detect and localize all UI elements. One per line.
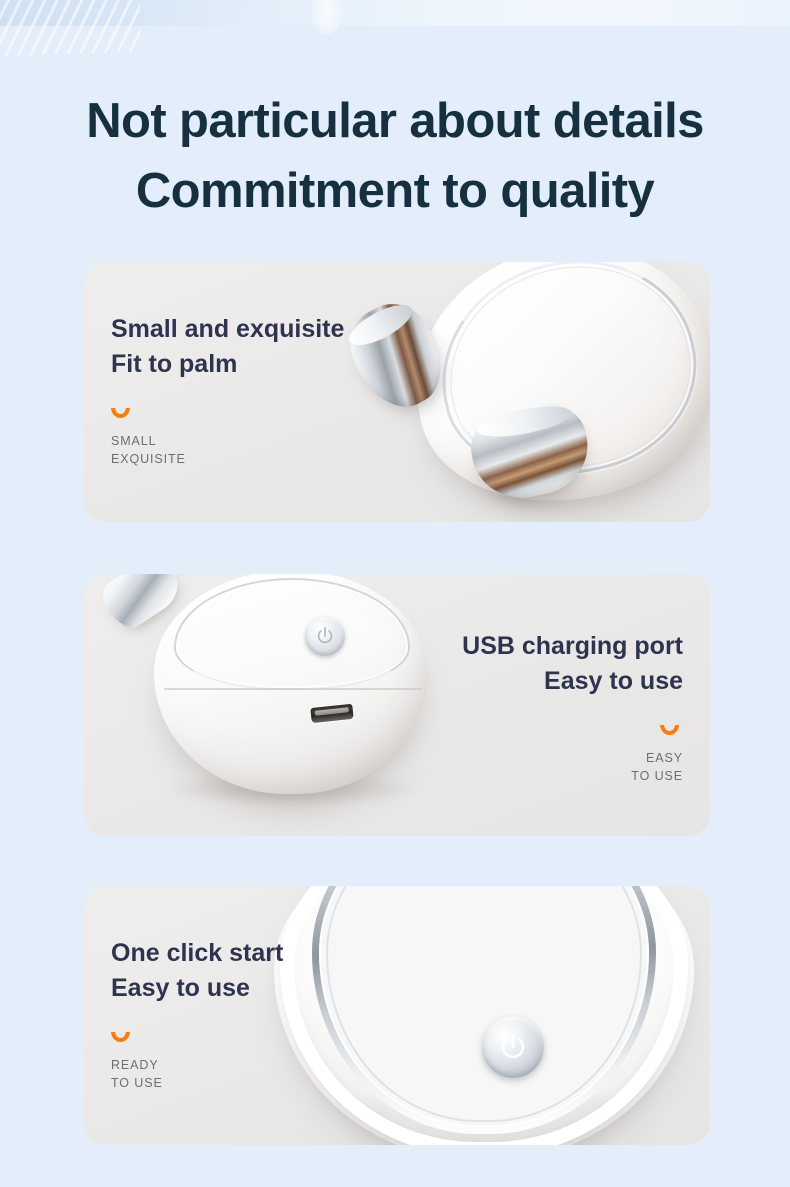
power-icon xyxy=(496,1030,530,1064)
card-caption-line-2: EXQUISITE xyxy=(111,450,344,468)
card-caption-line-2: TO USE xyxy=(111,1074,283,1092)
headline-line-1: Not particular about details xyxy=(0,86,790,156)
crescent-arc-icon xyxy=(111,1032,283,1046)
top-section-bleed xyxy=(0,0,790,26)
product-photo-small-exquisite xyxy=(322,262,710,522)
card-text-block: USB charging port Easy to use EASY TO US… xyxy=(462,629,683,785)
card-caption: SMALL EXQUISITE xyxy=(111,432,344,468)
card-caption-line-1: EASY xyxy=(646,751,683,765)
card-caption-line-1: READY xyxy=(111,1058,159,1072)
card-title-line-2: Easy to use xyxy=(111,971,283,1006)
feature-card-usb-charging-port[interactable]: USB charging port Easy to use EASY TO US… xyxy=(84,574,710,836)
product-photo-usb-charging-port xyxy=(90,574,490,836)
feature-card-one-click-start[interactable]: One click start Easy to use READY TO USE xyxy=(84,886,710,1145)
card-text-block: One click start Easy to use READY TO USE xyxy=(111,936,283,1092)
power-icon xyxy=(314,625,336,647)
card-caption: EASY TO USE xyxy=(462,749,683,785)
card-title-line-2: Fit to palm xyxy=(111,347,344,382)
crescent-arc-shape xyxy=(660,725,679,737)
feature-card-small-exquisite[interactable]: Small and exquisite Fit to palm SMALL EX… xyxy=(84,262,710,522)
card-title: One click start Easy to use xyxy=(111,936,283,1006)
card-caption-line-2: TO USE xyxy=(462,767,683,785)
device-power-button xyxy=(305,616,345,656)
card-title-line-1: USB charging port xyxy=(462,632,683,660)
crescent-arc-icon xyxy=(111,408,344,422)
card-title-line-1: Small and exquisite xyxy=(111,315,344,343)
crescent-arc-shape xyxy=(111,1032,130,1044)
headline-line-2: Commitment to quality xyxy=(0,156,790,226)
crescent-arc-shape xyxy=(111,408,130,420)
card-title-line-2: Easy to use xyxy=(462,664,683,699)
card-title: USB charging port Easy to use xyxy=(462,629,683,699)
card-title: Small and exquisite Fit to palm xyxy=(111,312,344,382)
product-photo-one-click-start xyxy=(234,886,710,1145)
card-text-block: Small and exquisite Fit to palm SMALL EX… xyxy=(111,312,344,468)
card-caption-line-1: SMALL xyxy=(111,434,157,448)
crescent-arc-icon xyxy=(462,725,683,739)
card-caption: READY TO USE xyxy=(111,1056,283,1092)
device-power-button xyxy=(482,1016,544,1078)
page-headline: Not particular about details Commitment … xyxy=(0,86,790,226)
product-feature-page: Not particular about details Commitment … xyxy=(0,0,790,1187)
card-title-line-1: One click start xyxy=(111,939,283,967)
